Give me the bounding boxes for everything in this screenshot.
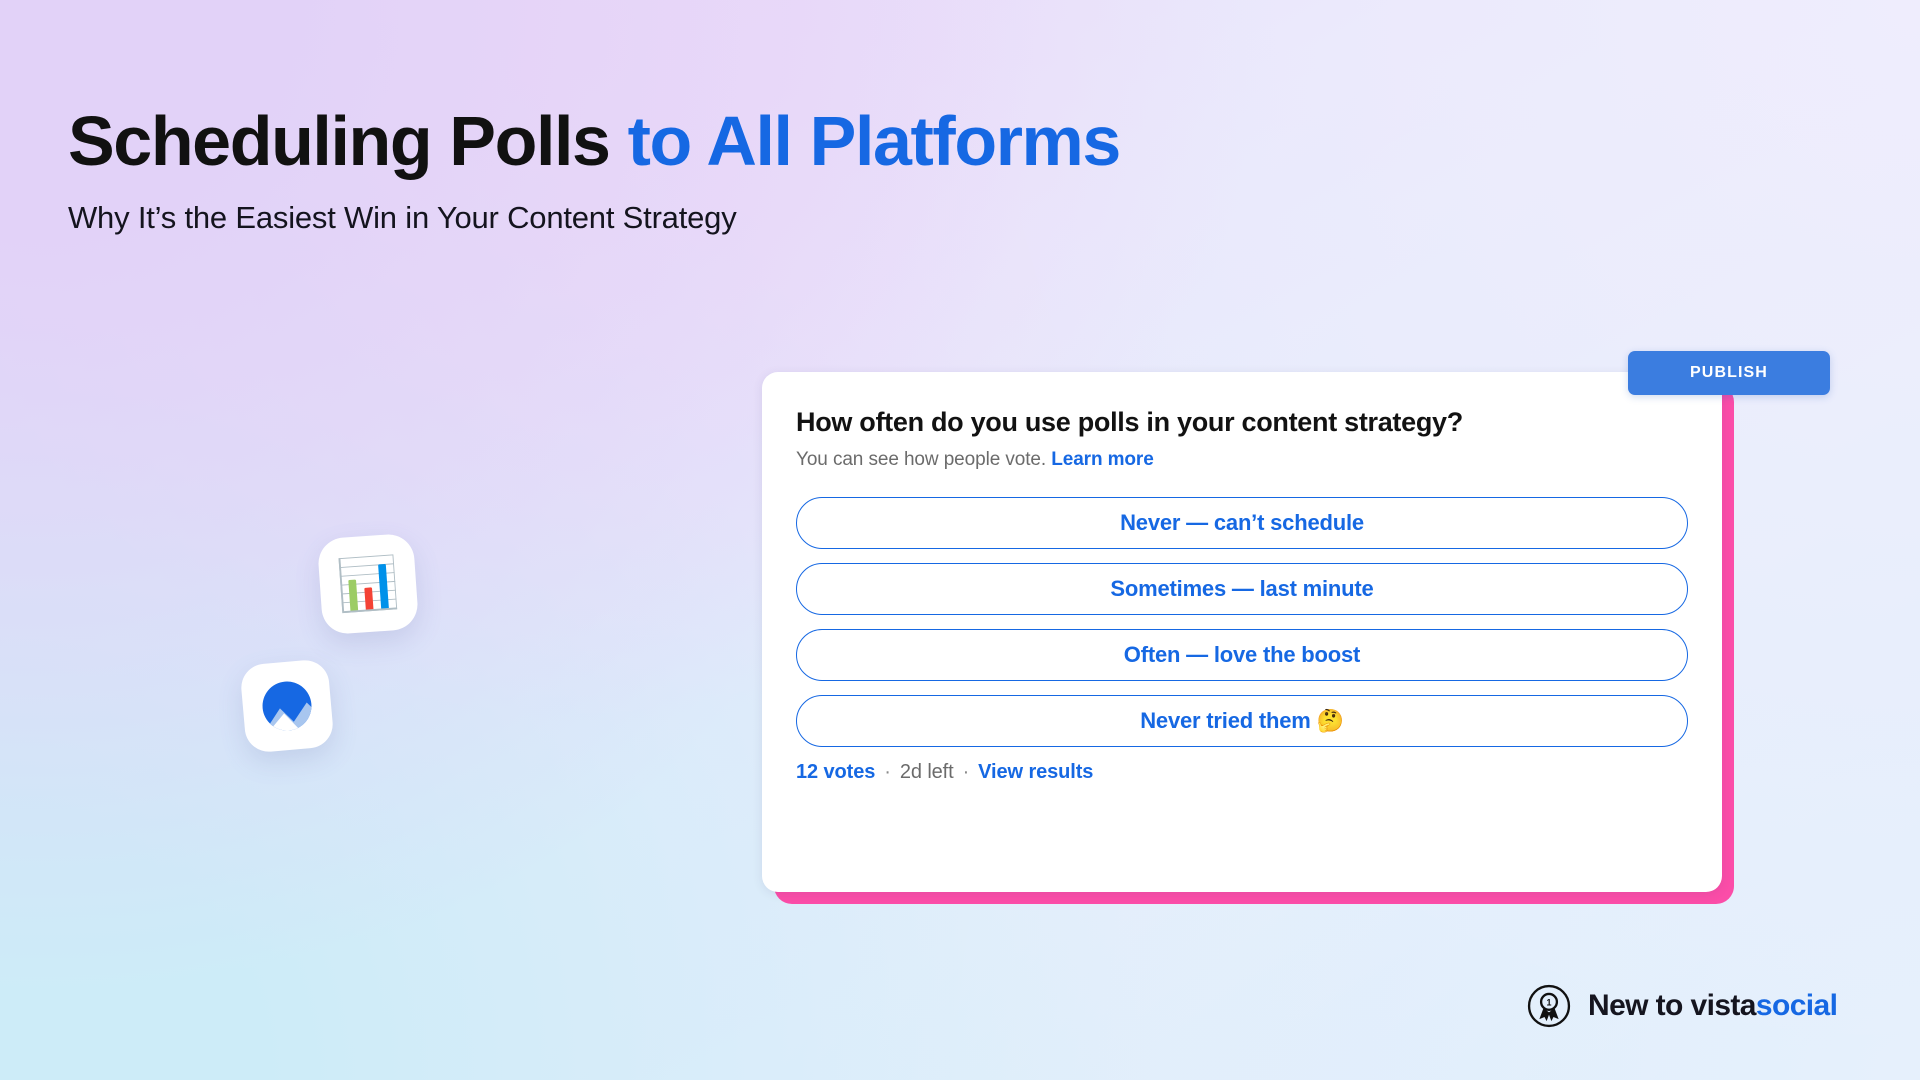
poll-option-3-label: Often — love the boost <box>1124 642 1360 668</box>
poll-subtext: You can see how people vote. <box>796 449 1046 470</box>
poll-time-left: 2d left <box>900 761 954 784</box>
page-title-primary: Scheduling Polls <box>68 102 610 180</box>
poll-card: How often do you use polls in your conte… <box>762 372 1722 892</box>
poll-option-1[interactable]: Never — can’t schedule <box>796 497 1688 549</box>
brand-name-social: social <box>1756 989 1837 1022</box>
vistasocial-logo-icon <box>256 675 319 738</box>
page-title-accent: to All Platforms <box>628 102 1120 180</box>
page-subtitle: Why It’s the Easiest Win in Your Content… <box>68 200 1468 236</box>
page-title: Scheduling Polls to All Platforms <box>68 105 1468 178</box>
brand-label: New to vistasocial <box>1588 989 1837 1023</box>
bar-chart-icon: 📊 <box>335 557 401 611</box>
award-ribbon-icon: 1 <box>1527 984 1571 1028</box>
bar-chart-tile: 📊 <box>317 533 419 635</box>
view-results-link[interactable]: View results <box>978 761 1093 784</box>
poll-card-wrapper: How often do you use polls in your conte… <box>762 372 1722 892</box>
poll-option-2[interactable]: Sometimes — last minute <box>796 563 1688 615</box>
poll-option-1-label: Never — can’t schedule <box>1120 510 1364 536</box>
footer-separator-1: · <box>884 761 891 784</box>
brand-footer: 1 New to vistasocial <box>1527 984 1837 1028</box>
poll-option-4-label: Never tried them 🤔 <box>1140 708 1344 734</box>
svg-text:1: 1 <box>1547 998 1552 1008</box>
learn-more-link[interactable]: Learn more <box>1051 449 1153 470</box>
footer-separator-2: · <box>963 761 970 784</box>
poll-vote-count: 12 votes <box>796 761 875 784</box>
publish-button-label: PUBLISH <box>1690 364 1768 382</box>
poll-footer: 12 votes · 2d left · View results <box>796 761 1688 784</box>
poll-question: How often do you use polls in your conte… <box>796 406 1688 440</box>
brand-prefix: New to <box>1588 989 1683 1022</box>
poll-options-list: Never — can’t schedule Sometimes — last … <box>796 497 1688 747</box>
poll-option-3[interactable]: Often — love the boost <box>796 629 1688 681</box>
poll-option-4[interactable]: Never tried them 🤔 <box>796 695 1688 747</box>
poll-option-2-label: Sometimes — last minute <box>1110 576 1373 602</box>
brand-name-vista: vista <box>1691 989 1756 1022</box>
hero-heading-block: Scheduling Polls to All Platforms Why It… <box>68 105 1468 236</box>
publish-button[interactable]: PUBLISH <box>1628 351 1830 395</box>
poll-subtext-row: You can see how people vote. Learn more <box>796 449 1688 471</box>
vistasocial-logo-tile <box>239 658 334 753</box>
